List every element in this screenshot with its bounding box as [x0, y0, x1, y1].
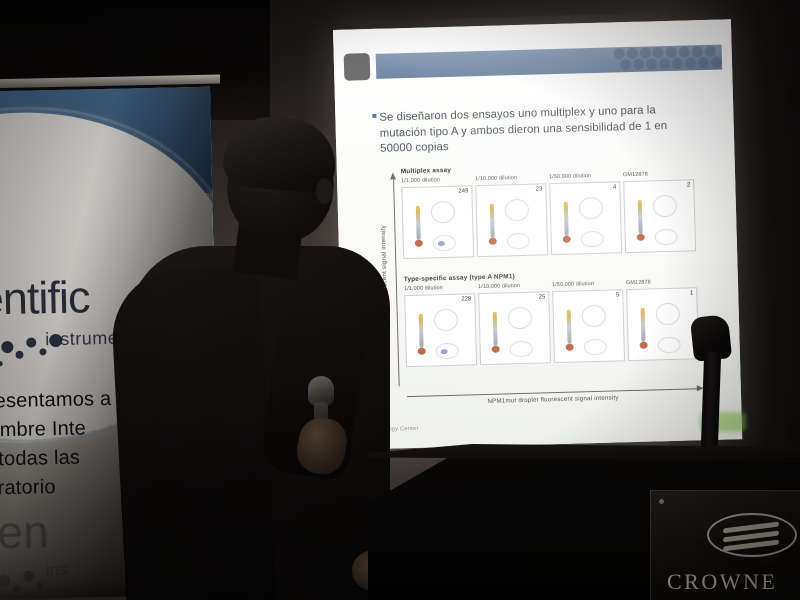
droplet-count: 228	[461, 296, 471, 302]
droplet-cluster	[564, 202, 569, 236]
plaque-screw	[659, 499, 664, 504]
slide-header-bar	[376, 44, 723, 78]
slide-bullet-text: Se diseñaron dos ensayos uno multiplex y…	[379, 102, 698, 157]
venue-plaque-label: CROWNE	[667, 569, 777, 595]
assay-column: 1/50,000 dilution 5	[552, 280, 624, 363]
droplet-ellipse-icon	[505, 199, 530, 222]
assay-group-multiplex: Multiplex assay 1/1,000 dilution 249	[401, 160, 697, 259]
droplet-cluster	[416, 206, 421, 240]
droplet-count: 5	[616, 292, 620, 298]
droplet-count: 4	[613, 184, 617, 190]
assay-group-type-specific: Type-specific assay (type A NPM1) 1/1,00…	[404, 268, 700, 367]
droplet-panel: 1	[626, 287, 699, 361]
speaker-ear	[316, 178, 333, 204]
droplet-ellipse-icon	[508, 307, 533, 330]
droplet-cluster	[419, 314, 424, 348]
droplet-panel: 2	[623, 179, 696, 253]
assay-panel-row: 1/1,000 dilution 228 1/10,000	[404, 278, 700, 367]
droplet-ellipse-icon	[507, 233, 530, 250]
droplet-cluster	[638, 200, 643, 234]
droplet-count: 25	[539, 294, 546, 300]
droplet-cluster	[490, 204, 495, 238]
slide-header-dot-pattern-icon	[612, 44, 723, 72]
droplet-cluster	[567, 310, 572, 344]
droplet-blob	[489, 238, 497, 245]
droplet-count: 2	[687, 182, 691, 188]
droplet-blob	[415, 240, 423, 247]
microphone-stand	[690, 316, 730, 466]
droplet-cluster	[641, 308, 646, 342]
assay-column: 1/1,000 dilution 228	[404, 284, 476, 367]
assay-column: 1/10,000 dilution 23	[475, 174, 547, 257]
droplet-blob	[637, 234, 645, 241]
assay-column: 1/50,000 dilution 4	[549, 172, 621, 255]
droplet-ellipse-icon	[579, 197, 604, 220]
presentation-scene: cientific instruments Representamos a Re…	[0, 0, 800, 600]
slide-header-band	[344, 43, 723, 83]
droplet-ellipse-icon	[582, 305, 607, 328]
droplet-blob	[566, 344, 574, 351]
assay-column: 1/1,000 dilution 249	[401, 176, 473, 259]
droplet-count: 23	[536, 186, 543, 192]
droplet-ellipse-icon	[657, 337, 680, 354]
droplet-ellipse-icon	[655, 229, 678, 246]
droplet-blob	[640, 342, 648, 349]
venue-plaque: CROWNE	[650, 490, 800, 600]
assay-panel-row: 1/1,000 dilution 249 1/10,000	[401, 170, 697, 259]
droplet-ellipse-icon	[581, 231, 604, 248]
assay-column: GM12878 1	[626, 278, 698, 361]
droplet-panel: 5	[552, 289, 625, 363]
slide-figure: ABL1 droplet fluorescent signal intensit…	[377, 160, 714, 419]
droplet-count: 1	[690, 290, 694, 296]
slide-header-square-icon	[344, 53, 371, 81]
droplet-blob	[492, 346, 500, 353]
speaker-shoulder	[109, 264, 277, 600]
droplet-panel: 249	[401, 185, 474, 259]
crowne-plaza-logo-icon	[707, 513, 797, 557]
speaker-silhouette	[120, 118, 400, 600]
droplet-panel: 228	[404, 293, 477, 367]
droplet-blob	[418, 348, 426, 355]
droplet-panel: 23	[475, 183, 548, 257]
droplet-ellipse-icon	[434, 309, 459, 332]
droplet-ellipse-icon	[583, 339, 606, 356]
droplet-count: 249	[458, 188, 468, 194]
slide-bullet-label: Se diseñaron dos ensayos uno multiplex y…	[379, 104, 667, 154]
droplet-panel: 4	[549, 181, 622, 255]
assay-column: 1/10,000 dilution 25	[478, 282, 550, 365]
droplet-cluster	[493, 312, 498, 346]
assay-column: GM12878 2	[623, 170, 695, 253]
droplet-blob	[563, 236, 571, 243]
droplet-panel: 25	[478, 291, 551, 365]
droplet-ellipse-icon	[656, 303, 681, 326]
droplet-ellipse-icon	[509, 341, 532, 358]
droplet-ellipse-icon	[431, 201, 456, 224]
droplet-ellipse-icon	[653, 195, 678, 218]
